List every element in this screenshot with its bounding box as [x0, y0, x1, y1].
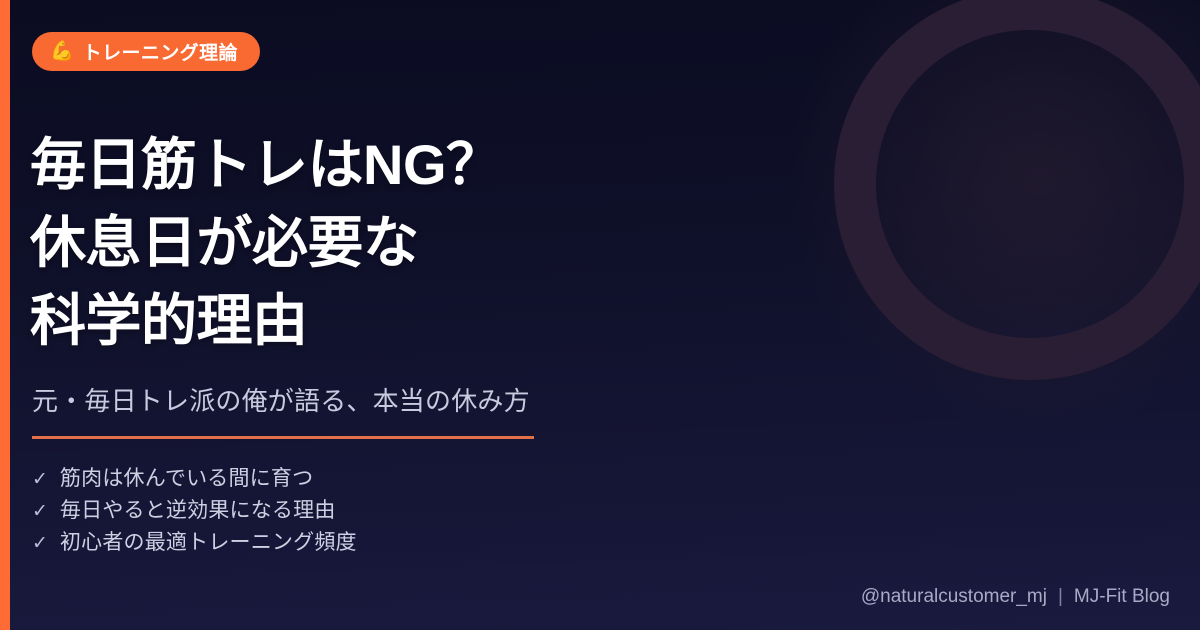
footer-handle: @naturalcustomer_mj [861, 586, 1047, 608]
category-badge: 💪 トレーニング理論 [32, 32, 260, 71]
footer-separator: | [1058, 586, 1063, 608]
category-badge-label: トレーニング理論 [83, 38, 238, 65]
card-content: 💪 トレーニング理論 毎日筋トレはNG？ 休息日が必要な 科学的理由 元・毎日ト… [30, 0, 1170, 630]
title-line-1: 毎日筋トレはNG？ [30, 126, 830, 204]
footer-site-name: MJ-Fit Blog [1074, 586, 1170, 608]
footer: @naturalcustomer_mj | MJ-Fit Blog [861, 586, 1170, 608]
left-accent-bar [0, 0, 10, 630]
list-item: ✓ 筋肉は休んでいる間に育つ [32, 462, 357, 494]
list-item: ✓ 初心者の最適トレーニング頻度 [32, 526, 357, 558]
flexed-biceps-icon: 💪 [50, 42, 74, 61]
divider [32, 436, 534, 439]
check-icon: ✓ [32, 470, 48, 489]
bullet-list: ✓ 筋肉は休んでいる間に育つ ✓ 毎日やると逆効果になる理由 ✓ 初心者の最適ト… [32, 462, 357, 558]
title-line-3: 科学的理由 [30, 282, 830, 360]
list-item: ✓ 毎日やると逆効果になる理由 [32, 494, 357, 526]
list-item-label: 筋肉は休んでいる間に育つ [60, 462, 313, 492]
page-title: 毎日筋トレはNG？ 休息日が必要な 科学的理由 [30, 126, 830, 360]
list-item-label: 毎日やると逆効果になる理由 [60, 494, 336, 524]
social-card: 💪 トレーニング理論 毎日筋トレはNG？ 休息日が必要な 科学的理由 元・毎日ト… [0, 0, 1200, 630]
title-line-2: 休息日が必要な [30, 204, 830, 282]
subtitle: 元・毎日トレ派の俺が語る、本当の休み方 [32, 381, 530, 418]
list-item-label: 初心者の最適トレーニング頻度 [60, 526, 357, 556]
check-icon: ✓ [32, 502, 48, 521]
check-icon: ✓ [32, 534, 48, 553]
